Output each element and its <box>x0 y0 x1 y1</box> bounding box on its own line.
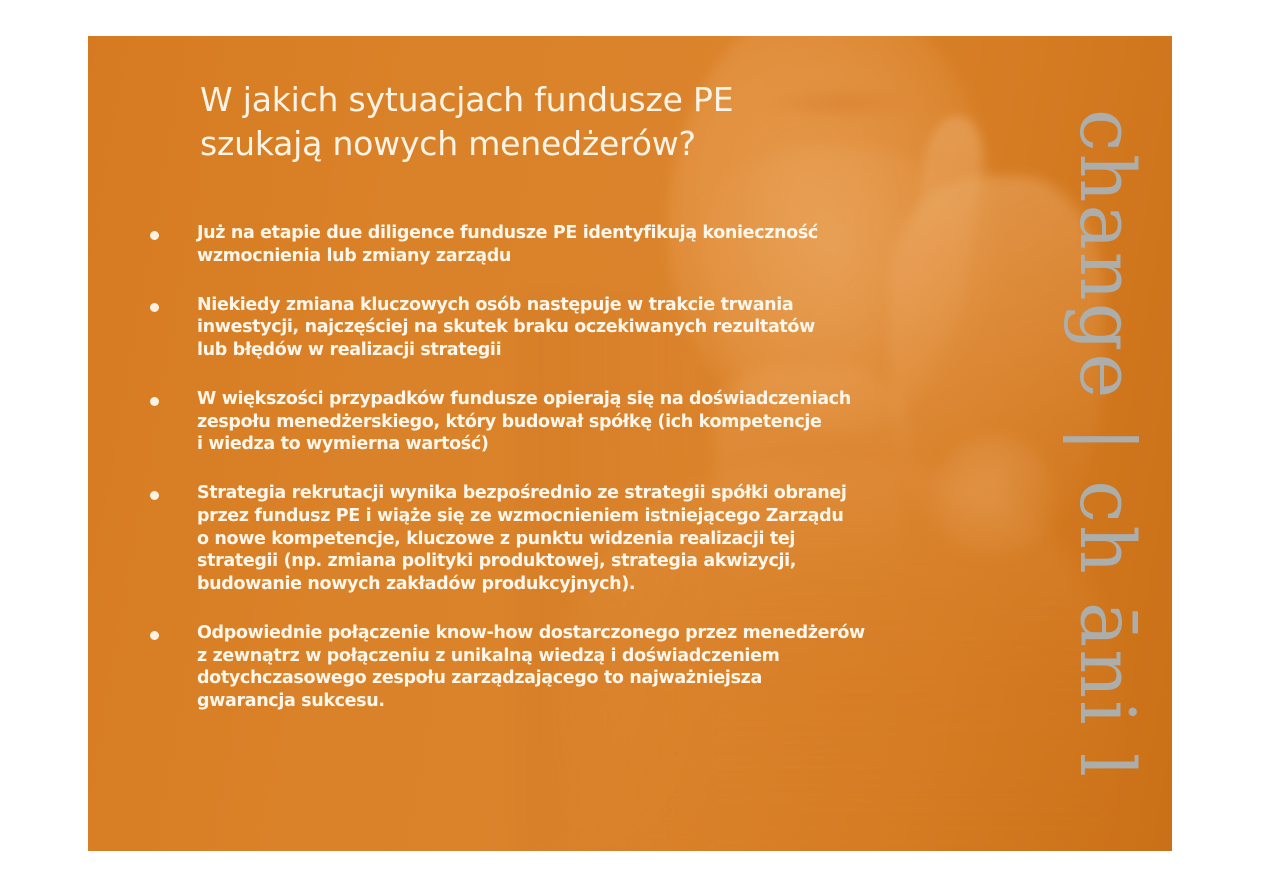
list-item: W większości przypadków fundusze opieraj… <box>150 388 1070 456</box>
list-item: Niekiedy zmiana kluczowych osób następuj… <box>150 294 1070 362</box>
list-item-text: Już na etapie due diligence fundusze PE … <box>197 222 1070 268</box>
slide-title: W jakich sytuacjach fundusze PE szukają … <box>200 78 900 166</box>
list-item-text: W większości przypadków fundusze opieraj… <box>197 388 1070 456</box>
list-item: Odpowiednie połączenie know-how dostarcz… <box>150 622 1070 713</box>
bullet-dot-icon <box>150 631 159 640</box>
brand-watermark-text: change | ch āni l <box>1069 108 1145 778</box>
bullet-dot-icon <box>150 231 159 240</box>
list-item-text: Odpowiednie połączenie know-how dostarcz… <box>197 622 1070 713</box>
bullet-dot-icon <box>150 491 159 500</box>
bullet-list: Już na etapie due diligence fundusze PE … <box>150 222 1070 739</box>
bullet-dot-icon <box>150 397 159 406</box>
list-item-text: Strategia rekrutacji wynika bezpośrednio… <box>197 482 1070 596</box>
list-item: Strategia rekrutacji wynika bezpośrednio… <box>150 482 1070 596</box>
bullet-dot-icon <box>150 303 159 312</box>
list-item-text: Niekiedy zmiana kluczowych osób następuj… <box>197 294 1070 362</box>
list-item: Już na etapie due diligence fundusze PE … <box>150 222 1070 268</box>
slide-content-panel: W jakich sytuacjach fundusze PE szukają … <box>88 36 1172 851</box>
slide-canvas: W jakich sytuacjach fundusze PE szukają … <box>0 0 1263 893</box>
